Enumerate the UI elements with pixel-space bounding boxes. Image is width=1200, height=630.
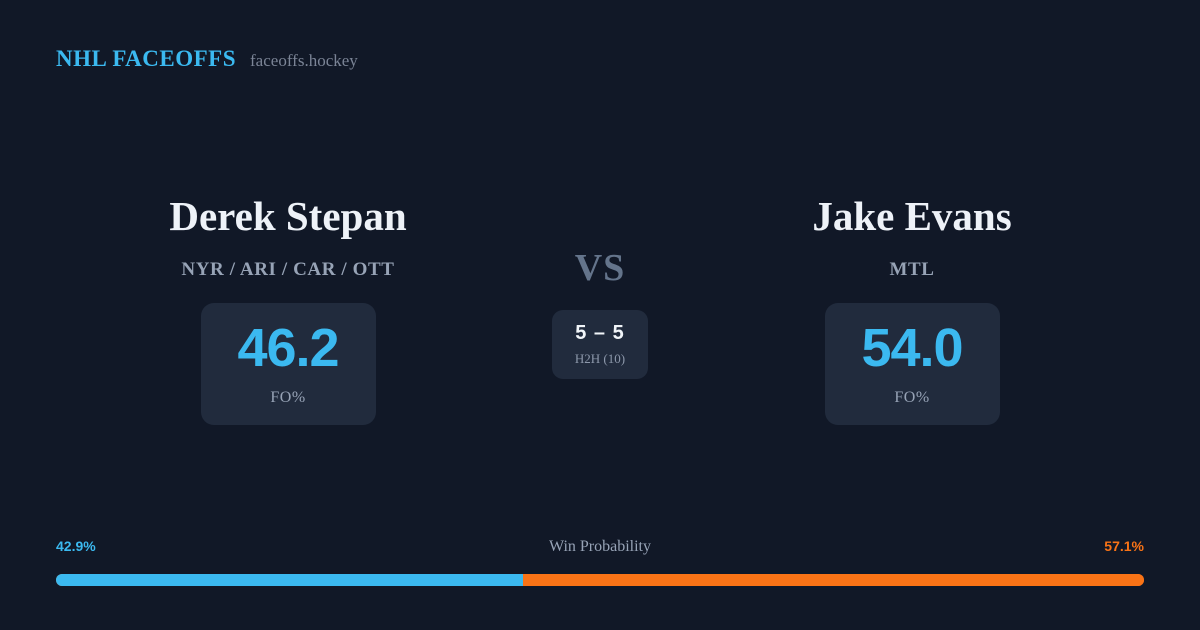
player-teams-right: MTL bbox=[889, 259, 934, 281]
faceoff-matchup-page: { "header": { "brand": "NHL FACEOFFS", "… bbox=[0, 0, 1200, 630]
win-probability-right-value: 57.1% bbox=[1104, 538, 1144, 554]
faceoff-stat-card-left: 46.2 FO% bbox=[201, 303, 376, 425]
brand-title: NHL FACEOFFS bbox=[56, 46, 236, 72]
versus-label: VS bbox=[575, 249, 626, 287]
faceoff-percentage-right: 54.0 bbox=[861, 321, 962, 375]
player-card-left[interactable]: Derek Stepan NYR / ARI / CAR / OTT 46.2 … bbox=[58, 196, 518, 425]
faceoff-percentage-left: 46.2 bbox=[237, 321, 338, 375]
player-name-right: Jake Evans bbox=[812, 196, 1011, 237]
head-to-head-record: 5 – 5 bbox=[575, 323, 624, 343]
player-card-right[interactable]: Jake Evans MTL 54.0 FO% bbox=[682, 196, 1142, 425]
faceoff-stat-label-left: FO% bbox=[270, 389, 305, 407]
win-probability-labels: 42.9% Win Probability 57.1% bbox=[56, 538, 1144, 560]
faceoff-stat-card-right: 54.0 FO% bbox=[825, 303, 1000, 425]
win-probability-bar bbox=[56, 574, 1144, 586]
win-probability-bar-right-segment bbox=[523, 574, 1144, 586]
win-probability-bar-left-segment bbox=[56, 574, 523, 586]
player-name-left: Derek Stepan bbox=[169, 196, 406, 237]
head-to-head-label: H2H (10) bbox=[575, 351, 625, 367]
win-probability-title: Win Probability bbox=[56, 538, 1144, 556]
site-header: NHL FACEOFFS faceoffs.hockey bbox=[56, 46, 358, 72]
win-probability-section: 42.9% Win Probability 57.1% bbox=[56, 538, 1144, 586]
matchup-section: Derek Stepan NYR / ARI / CAR / OTT 46.2 … bbox=[0, 196, 1200, 426]
player-teams-left: NYR / ARI / CAR / OTT bbox=[181, 259, 394, 281]
brand-domain: faceoffs.hockey bbox=[250, 51, 358, 71]
faceoff-stat-label-right: FO% bbox=[894, 389, 929, 407]
head-to-head-card: 5 – 5 H2H (10) bbox=[552, 310, 648, 379]
